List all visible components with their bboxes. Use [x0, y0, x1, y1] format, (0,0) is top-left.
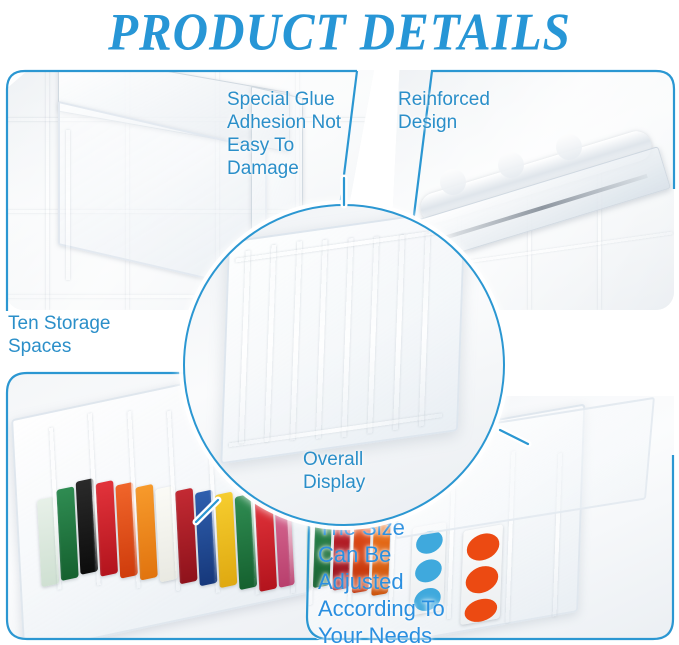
caption-bottom-right: The Size Can Be Adjusted According To Yo… — [318, 514, 508, 645]
page-title: PRODUCT DETAILS — [108, 5, 571, 58]
divider-blade — [239, 250, 251, 444]
caption-bottom-left: Ten Storage Spaces — [8, 312, 158, 358]
acrylic-edge — [66, 130, 70, 280]
divider-blade — [316, 239, 328, 439]
caption-top-left: Special Glue Adhesion Not Easy To Damage — [227, 88, 387, 180]
divider-blade — [393, 235, 405, 431]
caption-top-right: Reinforced Design — [398, 88, 568, 134]
divider-blade — [367, 236, 379, 434]
caption-center-circle: Overall Display — [303, 448, 423, 494]
compartment-group — [224, 212, 465, 464]
infographic-page: PRODUCT DETAILS Special Glue Adhesion No… — [0, 0, 679, 645]
divider-blade — [290, 241, 302, 441]
page-title-bar: PRODUCT DETAILS — [0, 0, 679, 62]
divider-blade — [264, 245, 276, 443]
divider-blade — [419, 233, 431, 427]
grid-line — [46, 70, 49, 310]
divider-blade — [342, 238, 354, 438]
